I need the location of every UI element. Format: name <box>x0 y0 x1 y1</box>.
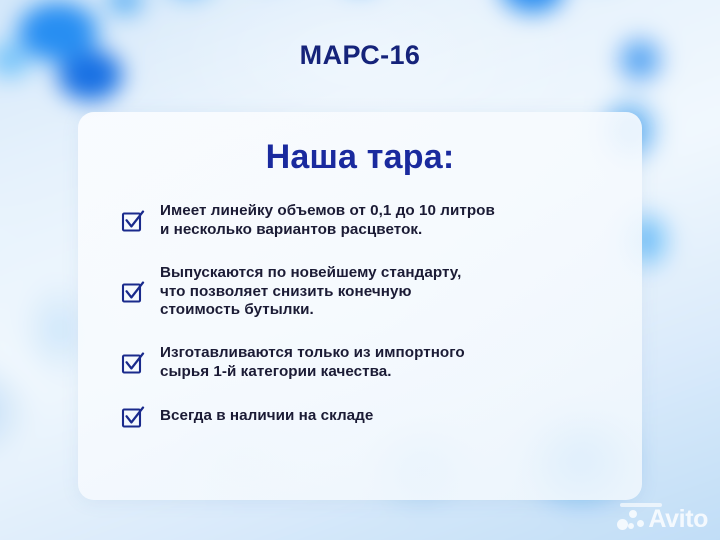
list-item-text: Выпускаются по новейшему стандарту, что … <box>160 264 461 321</box>
checkbox-checked-icon <box>122 281 144 303</box>
list-item-text: Всегда в наличии на складе <box>160 407 373 426</box>
list-item: Всегда в наличии на складе <box>122 406 620 428</box>
checkbox-checked-icon <box>122 210 144 232</box>
list-item: Выпускаются по новейшему стандарту, что … <box>122 264 620 321</box>
list-item-text: Изготавливаются только из импортного сыр… <box>160 344 465 382</box>
avito-dots-logo-icon <box>617 508 643 532</box>
list-item-text: Имеет линейку объемов от 0,1 до 10 литро… <box>160 202 495 240</box>
promo-banner: МАРС-16 Наша тара: Имеет линейку объемов… <box>0 0 720 540</box>
list-item: Имеет линейку объемов от 0,1 до 10 литро… <box>122 202 620 240</box>
list-item: Изготавливаются только из импортного сыр… <box>122 344 620 382</box>
feature-list: Имеет линейку объемов от 0,1 до 10 литро… <box>122 202 620 428</box>
brand-title: МАРС-16 <box>0 40 720 71</box>
avito-wordmark: Avito <box>648 507 708 532</box>
card-heading: Наша тара: <box>78 138 642 177</box>
avito-watermark: Avito <box>617 507 708 532</box>
watermark-bar <box>620 503 662 507</box>
content-card: Наша тара: Имеет линейку объемов от 0,1 … <box>78 112 642 500</box>
checkbox-checked-icon <box>122 352 144 374</box>
checkbox-checked-icon <box>122 406 144 428</box>
